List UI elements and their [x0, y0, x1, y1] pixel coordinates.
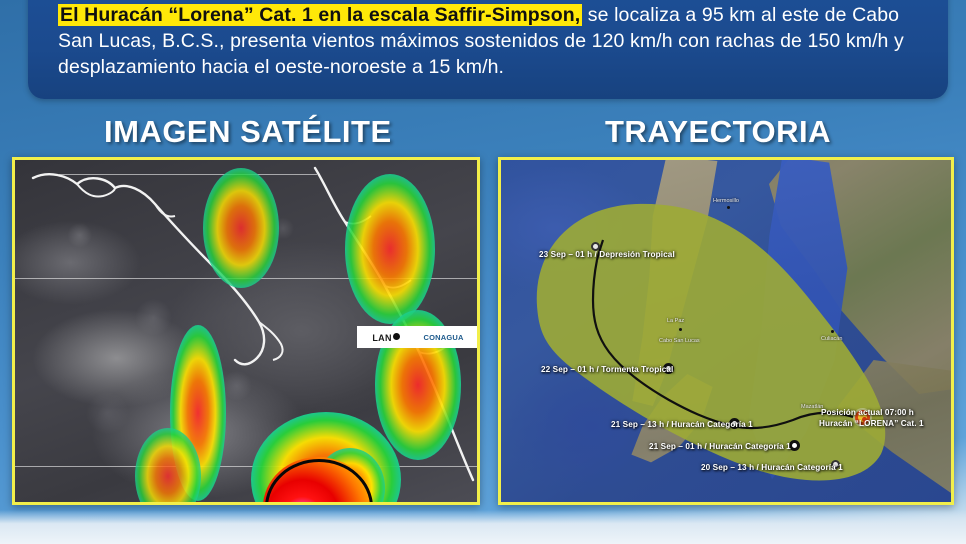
city-name-culiacan: Culiacán — [821, 336, 842, 342]
grid-line-bottom — [15, 466, 477, 467]
city-name-hermosillo: Hermosillo — [713, 198, 739, 204]
bottom-strip — [0, 510, 966, 544]
track-label-23sep: 23 Sep – 01 h / Depresión Tropical — [539, 250, 675, 259]
lanot-logo: LAN — [372, 328, 400, 346]
logo-bar: LAN CONAGUA — [357, 326, 479, 348]
track-label-21sep-13h: 21 Sep – 13 h / Huracán Categoría 1 — [611, 420, 753, 429]
city-name-cabo-san-lucas: Cabo San Lucas — [659, 338, 700, 344]
grid-line-top — [59, 174, 317, 175]
bulletin-banner: El Huracán “Lorena” Cat. 1 en la escala … — [28, 0, 948, 99]
city-dot-la-paz — [679, 328, 682, 331]
convection-band-northeast — [345, 174, 435, 324]
trajectory-section-title: TRAYECTORIA — [605, 114, 831, 150]
track-label-21sep-01h: 21 Sep – 01 h / Huracán Categoría 1 — [649, 442, 791, 451]
city-dot-culiacan — [831, 330, 834, 333]
trajectory-map-panel[interactable]: 23 Sep – 01 h / Depresión Tropical 22 Se… — [498, 157, 954, 505]
bulletin-text: El Huracán “Lorena” Cat. 1 en la escala … — [58, 2, 926, 80]
city-name-mazatlan: Mazatlán — [801, 404, 823, 410]
satellite-image-panel[interactable]: Huracán “Lorena” Cat. 1 LAN CONAGUA — [12, 157, 480, 505]
current-position-label-line1: Posición actual 07:00 h — [821, 408, 914, 417]
track-label-22sep: 22 Sep – 01 h / Tormenta Tropical — [541, 365, 673, 374]
convection-band-north — [203, 168, 279, 288]
satellite-section-title: IMAGEN SATÉLITE — [104, 114, 392, 150]
city-name-la-paz: La Paz — [667, 318, 684, 324]
lanot-mark-icon — [393, 333, 400, 340]
current-position-label-line2: Huracán “LORENA” Cat. 1 — [819, 419, 924, 428]
conagua-logo: CONAGUA — [423, 333, 463, 342]
track-label-20sep: 20 Sep – 13 h / Huracán Categoría 1 — [701, 463, 843, 472]
bulletin-highlight: El Huracán “Lorena” Cat. 1 en la escala … — [58, 4, 582, 26]
city-dot-hermosillo — [727, 206, 730, 209]
